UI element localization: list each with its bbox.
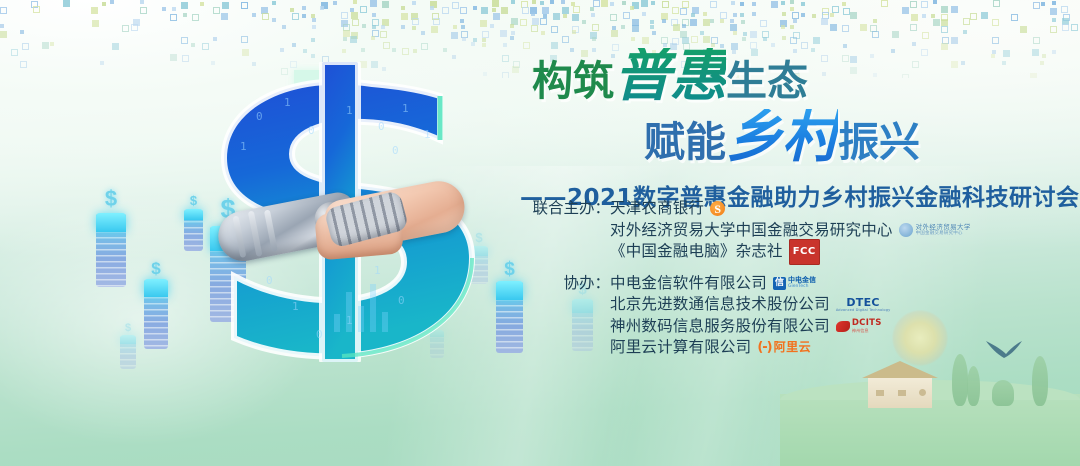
mosaic-square: [22, 43, 29, 50]
mosaic-square: [951, 37, 958, 44]
mosaic-square: [650, 20, 654, 24]
mosaic-square: [610, 2, 614, 6]
house-window: [898, 390, 906, 396]
mosaic-square: [781, 1, 785, 5]
mosaic-square: [832, 6, 839, 13]
dollar-sign-graphic: 010 101 101 011 010: [196, 62, 496, 362]
house-window: [876, 390, 884, 396]
mosaic-square: [221, 13, 228, 20]
mosaic-square: [731, 1, 735, 5]
mosaic-square: [522, 7, 529, 14]
mosaic-square: [511, 31, 515, 35]
svg-text:1: 1: [424, 128, 431, 141]
mosaic-square: [992, 19, 999, 26]
svg-text:0: 0: [378, 120, 385, 133]
mosaic-square: [921, 1, 928, 8]
mosaic-square: [453, 25, 457, 29]
svg-text:1: 1: [240, 140, 247, 153]
mosaic-square: [502, 72, 509, 78]
coin-stack-top: [120, 335, 136, 344]
title-seg-gouzhu: 构筑: [532, 61, 614, 102]
mosaic-square: [981, 12, 988, 19]
mosaic-square: [412, 1, 416, 5]
dcits-swoosh-icon: [836, 321, 850, 332]
mosaic-square: [642, 12, 646, 16]
dcits-logo: DCITS 神州信息: [836, 319, 882, 333]
mosaic-square: [433, 18, 440, 25]
mosaic-square: [572, 30, 576, 34]
mosaic-square: [622, 1, 626, 5]
mosaic-square: [571, 2, 575, 6]
mosaic-square: [632, 25, 639, 32]
mosaic-square: [42, 42, 49, 49]
supporters-label: 协办：: [528, 273, 610, 295]
supporter-name: 中电金信软件有限公司: [610, 273, 767, 295]
svg-text:1: 1: [284, 96, 291, 109]
mosaic-square: [710, 19, 714, 23]
mosaic-square: [931, 14, 935, 18]
mosaic-square: [531, 12, 535, 16]
mosaic-square: [532, 0, 536, 4]
mosaic-square: [312, 25, 316, 29]
mosaic-square: [963, 30, 967, 34]
mosaic-square: [740, 13, 744, 17]
mosaic-square: [452, 2, 459, 9]
mosaic-square: [1052, 1, 1056, 5]
mosaic-square: [182, 55, 189, 62]
mosaic-square: [1061, 6, 1068, 13]
mosaic-square: [641, 0, 648, 7]
aliyun-logo-text: 阿里云: [774, 337, 812, 359]
credit-row: 协办： 北京先进数通信息技术股份公司 DTEC Advanced Digital…: [528, 294, 971, 316]
dollar-symbol-icon: $: [504, 260, 515, 279]
mosaic-square: [252, 13, 256, 17]
title-seg-puhui: 普惠: [614, 48, 726, 105]
title-line-1: 构筑普惠生态: [520, 48, 1080, 105]
mosaic-square: [742, 37, 746, 41]
mosaic-square: [192, 14, 199, 21]
mosaic-square: [490, 24, 494, 28]
credits-block: 联合主办： 天津农商银行 联合主办： 对外经济贸易大学中国金融交易研究中心 对外…: [528, 198, 971, 369]
mosaic-square: [1033, 2, 1040, 9]
mosaic-square: [181, 2, 188, 9]
mosaic-square: [343, 37, 347, 41]
mosaic-square: [202, 43, 209, 50]
fcc-logo-text: FCC: [789, 239, 820, 266]
mosaic-square: [302, 14, 306, 18]
svg-text:0: 0: [308, 124, 315, 137]
svg-text:0: 0: [392, 144, 399, 157]
mosaic-square: [140, 7, 147, 14]
mosaic-square: [50, 42, 54, 46]
co-host-name: 《中国金融电脑》杂志社: [610, 241, 783, 263]
mosaic-square: [482, 38, 486, 42]
mosaic-square: [242, 49, 249, 56]
mosaic-square: [662, 1, 669, 8]
mosaic-square: [200, 2, 204, 6]
mosaic-square: [282, 25, 286, 29]
swallow-bird: [984, 338, 1024, 362]
mosaic-square: [181, 37, 188, 44]
mosaic-square: [421, 43, 428, 50]
mosaic-square: [112, 43, 119, 50]
uibe-seal-icon: [899, 223, 913, 237]
mosaic-square: [590, 7, 594, 11]
credit-row: 协办： 阿里云计算有限公司 (-) 阿里云: [528, 337, 971, 359]
mosaic-square: [452, 55, 456, 59]
mosaic-square: [172, 7, 176, 11]
mosaic-square: [471, 42, 475, 46]
mosaic-square: [413, 49, 417, 53]
mosaic-square: [652, 31, 656, 35]
mosaic-square: [480, 20, 487, 27]
mosaic-square: [482, 43, 486, 47]
mosaic-square: [1041, 2, 1045, 6]
mosaic-square: [421, 31, 425, 35]
gientech-logo-line1: 中电金信: [788, 277, 816, 284]
mosaic-square: [241, 2, 248, 9]
mosaic-square: [1020, 26, 1027, 33]
title-seg-xiangcun: 乡村: [726, 109, 838, 166]
mosaic-square: [0, 7, 7, 14]
mosaic-square: [460, 19, 464, 23]
mosaic-square: [662, 19, 666, 23]
mosaic-square: [812, 14, 816, 18]
mosaic-square: [860, 24, 867, 31]
mosaic-square: [743, 32, 747, 36]
mosaic-square: [102, 2, 106, 6]
mosaic-square: [412, 26, 416, 30]
mosaic-square: [520, 19, 527, 26]
mosaic-square: [462, 37, 466, 41]
credit-row: 联合主办： 《中国金融电脑》杂志社 FCC: [528, 241, 971, 263]
mosaic-square: [922, 32, 929, 39]
mosaic-square: [1071, 24, 1078, 31]
mosaic-square: [933, 19, 940, 26]
mosaic-square: [703, 12, 707, 16]
mosaic-square: [563, 14, 567, 18]
mosaic-square: [361, 48, 365, 52]
credit-row: 联合主办： 对外经济贸易大学中国金融交易研究中心 对外经济贸易大学 中国金融交易…: [528, 220, 971, 242]
coin-stack: $: [120, 335, 136, 369]
mosaic-square: [793, 19, 797, 23]
mosaic-square: [621, 25, 625, 29]
mosaic-square: [350, 8, 354, 12]
mosaic-square: [902, 7, 909, 14]
mosaic-square: [562, 36, 569, 43]
mosaic-square: [272, 1, 276, 5]
mosaic-square: [20, 61, 27, 68]
co-hosts-label: 联合主办：: [528, 198, 610, 220]
mosaic-square: [512, 66, 519, 73]
mosaic-square: [492, 8, 496, 12]
mosaic-square: [170, 54, 177, 61]
mosaic-square: [561, 0, 565, 4]
svg-text:0: 0: [316, 328, 323, 341]
mosaic-square: [401, 25, 405, 29]
mosaic-square: [650, 25, 654, 29]
mosaic-square: [690, 19, 697, 26]
mosaic-square: [511, 0, 515, 4]
dollar-symbol-icon: $: [105, 188, 117, 210]
supporters-group: 协办： 中电金信软件有限公司 信 中电金信 GienTech 协办： 北京先进数…: [528, 273, 971, 359]
mosaic-square: [601, 0, 608, 7]
dollar-symbol-icon: $: [125, 323, 131, 334]
mosaic-square: [0, 31, 7, 38]
mosaic-square: [541, 31, 545, 35]
mosaic-square: [892, 31, 899, 38]
mosaic-square: [91, 7, 98, 14]
mosaic-square: [501, 7, 508, 14]
title-line-2: 赋能乡村振兴: [520, 109, 1080, 166]
mosaic-square: [333, 1, 337, 5]
mosaic-square: [510, 24, 514, 28]
mosaic-square: [430, 6, 434, 10]
svg-text:0: 0: [256, 110, 263, 123]
mosaic-square: [540, 18, 547, 25]
mosaic-square: [752, 12, 756, 16]
mosaic-square: [710, 1, 717, 8]
mosaic-square: [550, 0, 554, 4]
mosaic-square: [213, 7, 220, 14]
tianjin-rural-bank-logo: [710, 201, 725, 216]
mosaic-square: [1011, 14, 1018, 21]
mosaic-square: [782, 12, 786, 16]
mosaic-square: [1052, 18, 1056, 22]
uibe-logo: 对外经济贸易大学 中国金融交易研究中心: [899, 223, 971, 237]
mosaic-square: [280, 48, 284, 52]
mosaic-square: [1062, 24, 1069, 31]
mosaic-square: [401, 13, 408, 20]
mosaic-square: [412, 18, 419, 25]
mosaic-square: [222, 2, 229, 9]
mosaic-square: [20, 30, 24, 34]
mosaic-square: [631, 37, 635, 41]
bush: [992, 380, 1014, 406]
mosaic-square: [850, 12, 857, 19]
mosaic-square: [1050, 26, 1057, 33]
mosaic-square: [63, 0, 70, 7]
mosaic-square: [351, 12, 358, 19]
dtec-logo: DTEC Advanced Digital Technology: [836, 297, 891, 313]
mosaic-square: [500, 30, 507, 37]
mosaic-square: [372, 25, 376, 29]
dtec-logo-line2: Advanced Digital Technology: [836, 309, 891, 313]
tree: [1032, 356, 1048, 406]
mosaic-square: [872, 31, 879, 38]
mosaic-square: [592, 24, 599, 31]
mosaic-square: [383, 42, 390, 49]
mosaic-square: [451, 32, 458, 39]
mosaic-square: [843, 8, 850, 15]
mosaic-square: [582, 20, 586, 24]
mosaic-square: [442, 7, 449, 14]
mosaic-square: [311, 38, 315, 42]
fcc-logo: FCC: [789, 239, 820, 266]
mosaic-square: [741, 20, 745, 24]
gientech-mark-icon: 信: [773, 277, 786, 290]
mosaic-square: [951, 6, 958, 13]
mosaic-square: [481, 7, 488, 14]
coin-stack-top: [144, 279, 168, 297]
mosaic-square: [651, 1, 655, 5]
co-host-name: 天津农商银行: [610, 198, 704, 220]
supporter-name: 神州数码信息服务股份有限公司: [610, 316, 830, 338]
mosaic-square: [350, 36, 357, 43]
mosaic-square: [790, 7, 794, 11]
mosaic-square: [910, 1, 917, 8]
mosaic-square: [830, 24, 837, 31]
credit-row: 联合主办： 天津农商银行: [528, 198, 971, 220]
dtec-logo-line1: DTEC: [846, 297, 879, 308]
mosaic-square: [591, 13, 595, 17]
mosaic-square: [922, 14, 926, 18]
mosaic-square: [680, 8, 687, 15]
mosaic-square: [380, 31, 387, 38]
coin-stack: $: [496, 281, 523, 353]
cetc-gientech-logo: 信 中电金信 GienTech: [773, 277, 816, 290]
mosaic-square: [782, 36, 786, 40]
mosaic-square: [473, 38, 477, 42]
mosaic-square: [821, 18, 828, 25]
mosaic-square: [372, 13, 376, 17]
mosaic-square: [771, 43, 775, 47]
coin-stack-top: [496, 281, 523, 300]
mosaic-square: [92, 20, 99, 27]
mosaic-square: [993, 0, 1000, 7]
mosaic-square: [381, 25, 385, 29]
mosaic-square: [493, 13, 500, 20]
mosaic-square: [312, 18, 316, 22]
mosaic-square: [750, 31, 757, 38]
mosaic-square: [341, 12, 348, 19]
mosaic-square: [813, 37, 820, 44]
mosaic-square: [402, 48, 409, 55]
mosaic-square: [610, 14, 617, 21]
supporter-name: 阿里云计算有限公司: [610, 337, 751, 359]
mosaic-square: [303, 49, 307, 53]
mosaic-square: [382, 1, 389, 8]
mosaic-square: [630, 6, 634, 10]
mosaic-square: [443, 48, 447, 52]
credit-row: 协办： 神州数码信息服务股份有限公司 DCITS 神州信息: [528, 316, 971, 338]
co-host-name: 对外经济贸易大学中国金融交易研究中心: [610, 220, 893, 242]
coin-stack: $: [96, 213, 126, 287]
svg-text:0: 0: [398, 294, 405, 307]
mosaic-square: [933, 0, 937, 4]
mosaic-square: [272, 18, 276, 22]
mosaic-square: [320, 6, 324, 10]
mosaic-square: [682, 24, 686, 28]
svg-text:1: 1: [402, 102, 409, 115]
mosaic-square: [752, 2, 756, 6]
mosaic-square: [673, 24, 680, 31]
mosaic-square: [100, 61, 104, 65]
mosaic-square: [733, 31, 737, 35]
mosaic-square: [551, 26, 558, 33]
mosaic-square: [691, 13, 695, 17]
dcits-logo-line1: DCITS: [852, 319, 882, 328]
dcits-logo-line2: 神州信息: [852, 329, 882, 333]
title-seg-funeng: 赋能: [644, 122, 726, 163]
mosaic-square: [370, 0, 377, 7]
mosaic-square: [781, 25, 785, 29]
mosaic-square: [241, 36, 248, 43]
mosaic-square: [392, 48, 396, 52]
mosaic-square: [292, 43, 296, 47]
mosaic-square: [371, 36, 375, 40]
uibe-logo-line1: 对外经济贸易大学: [916, 224, 971, 231]
mosaic-square: [473, 6, 477, 10]
mosaic-square: [33, 6, 40, 13]
title-seg-zhenxing: 振兴: [838, 122, 920, 163]
mosaic-square: [162, 7, 166, 11]
mosaic-square: [700, 31, 704, 35]
mosaic-square: [191, 43, 195, 47]
coin-stack-top: [96, 213, 126, 232]
mosaic-square: [963, 18, 970, 25]
mosaic-square: [353, 0, 357, 4]
mosaic-square: [401, 6, 405, 10]
mosaic-square: [592, 37, 596, 41]
mosaic-square: [461, 25, 465, 29]
mosaic-square: [790, 25, 794, 29]
mosaic-square: [730, 19, 734, 23]
mosaic-square: [183, 13, 187, 17]
mosaic-square: [881, 0, 888, 7]
co-hosts-group: 联合主办： 天津农商银行 联合主办： 对外经济贸易大学中国金融交易研究中心 对外…: [528, 198, 971, 263]
mosaic-square: [941, 6, 948, 13]
mosaic-square: [543, 14, 547, 18]
mosaic-square: [311, 14, 315, 18]
mosaic-square: [311, 54, 315, 58]
mosaic-square: [553, 13, 560, 20]
mosaic-square: [790, 0, 794, 4]
mosaic-square: [11, 49, 18, 56]
mosaic-square: [122, 25, 129, 32]
mosaic-square: [213, 37, 217, 41]
event-banner: $$$$$$$$$$: [0, 0, 1080, 466]
mosaic-square: [290, 8, 294, 12]
mosaic-square: [612, 26, 616, 30]
mosaic-square: [140, 0, 144, 4]
house-window-round: [919, 389, 926, 396]
mosaic-square: [992, 37, 999, 44]
mosaic-square: [431, 26, 438, 33]
mosaic-square: [360, 6, 367, 13]
mosaic-square: [502, 55, 509, 62]
mosaic-square: [801, 2, 805, 6]
mosaic-square: [703, 19, 710, 26]
credit-row: 协办： 中电金信软件有限公司 信 中电金信 GienTech: [528, 273, 971, 295]
mosaic-square: [720, 19, 724, 23]
mosaic-square: [623, 12, 630, 19]
mosaic-square: [771, 1, 778, 8]
mosaic-square: [790, 37, 797, 44]
mosaic-square: [733, 13, 737, 17]
mosaic-square: [842, 25, 849, 32]
mosaic-square: [1033, 37, 1040, 44]
mosaic-square: [910, 24, 917, 31]
mosaic-square: [572, 14, 579, 21]
mosaic-square: [510, 36, 514, 40]
mosaic-square: [763, 37, 767, 41]
mosaic-square: [573, 6, 580, 13]
mosaic-square: [362, 24, 366, 28]
mosaic-square: [830, 13, 834, 17]
mosaic-square: [342, 49, 346, 53]
mosaic-square: [531, 25, 538, 32]
